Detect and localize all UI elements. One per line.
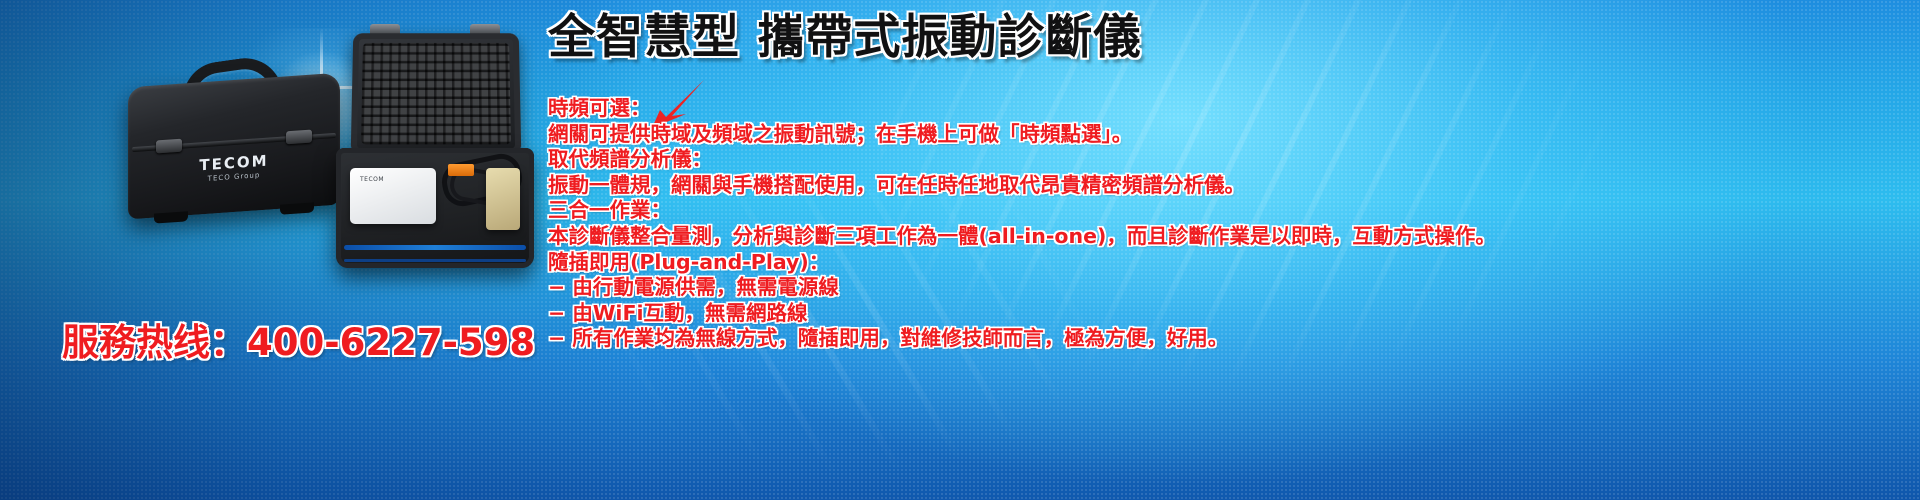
feature-line-9: − 由WiFi互動，無需網路線 <box>548 301 1908 327</box>
case-latch-right <box>286 130 312 145</box>
feature-line-8: − 由行動電源供需，無需電源線 <box>548 275 1908 301</box>
feature-line-7: 隨插即用(Plug-and-Play)： <box>548 250 1908 276</box>
promo-banner: TECOM TECO Group TECOM 全智慧 <box>0 0 1920 500</box>
feature-line-1: 時頻可選： <box>548 96 1908 122</box>
gateway-device-label: TECOM <box>360 176 384 183</box>
orange-accessory <box>448 164 474 176</box>
case-foot-left <box>154 211 188 223</box>
vibration-sensor-device <box>486 168 520 230</box>
open-case-lid <box>351 33 522 154</box>
foam-insert <box>361 43 511 144</box>
open-carrying-case: TECOM <box>330 18 540 268</box>
service-hotline: 服務热线：400-6227-598 <box>62 312 535 366</box>
page-title: 全智慧型 攜帶式振動診斷儀 <box>548 14 1141 61</box>
case-blue-trim-secondary <box>344 259 526 262</box>
case-foot-right <box>280 202 314 214</box>
brand-badge: TECOM TECO Group <box>199 154 268 184</box>
feature-line-5: 三合一作業： <box>548 198 1908 224</box>
case-blue-trim <box>344 245 526 250</box>
feature-list: 時頻可選： 網關可提供時域及頻域之振動訊號；在手機上可做「時頻點選」。 取代頻譜… <box>548 96 1908 352</box>
case-latch-left <box>156 139 182 154</box>
feature-line-3: 取代頻譜分析儀： <box>548 147 1908 173</box>
feature-line-2: 網關可提供時域及頻域之振動訊號；在手機上可做「時頻點選」。 <box>548 122 1908 148</box>
gateway-device: TECOM <box>350 168 436 224</box>
feature-line-4: 振動一體規，網關與手機搭配使用，可在任時任地取代昂貴精密頻譜分析儀。 <box>548 173 1908 199</box>
feature-line-10: − 所有作業均為無線方式，隨插即用，對維修技師而言，極為方便，好用。 <box>548 326 1908 352</box>
feature-line-6: 本診斷儀整合量測，分析與診斷三項工作為一體(all-in-one)，而且診斷作業… <box>548 224 1908 250</box>
closed-carrying-case: TECOM TECO Group <box>128 73 340 220</box>
